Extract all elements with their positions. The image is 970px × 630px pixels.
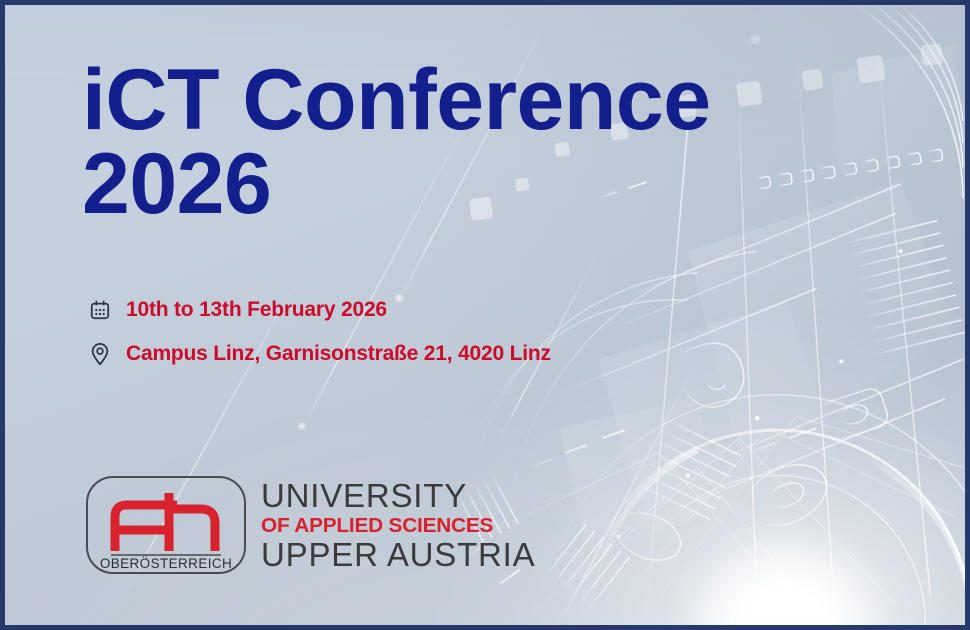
fh-upper-austria-logo: OBERÖSTERREICH UNIVERSITY OF APPLIED SCI… — [85, 475, 535, 575]
event-date-text: 10th to 13th February 2026 — [126, 298, 387, 322]
map-pin-icon — [87, 341, 113, 367]
wordmark-line-upper-austria: UPPER AUSTRIA — [261, 538, 535, 572]
fh-logo-mark-icon: OBERÖSTERREICH — [85, 475, 247, 575]
event-date-row: 10th to 13th February 2026 — [87, 293, 551, 327]
event-details: 10th to 13th February 2026 Campus Linz, … — [87, 293, 551, 381]
page-title: iCT Conference 2026 — [82, 58, 842, 227]
title-line-1: iCT Conference — [82, 58, 842, 142]
conference-banner: iCT Conference 2026 — [0, 0, 970, 630]
wordmark-line-university: UNIVERSITY — [261, 479, 535, 513]
fh-logo-wordmark: UNIVERSITY OF APPLIED SCIENCES UPPER AUS… — [261, 477, 535, 572]
event-location-text: Campus Linz, Garnisonstraße 21, 4020 Lin… — [126, 342, 551, 366]
event-location-row: Campus Linz, Garnisonstraße 21, 4020 Lin… — [87, 337, 551, 371]
fh-logo-caption: OBERÖSTERREICH — [100, 556, 232, 571]
title-line-2: 2026 — [82, 142, 842, 226]
calendar-icon — [87, 297, 113, 323]
banner-content: iCT Conference 2026 — [5, 5, 965, 625]
wordmark-line-applied-sciences: OF APPLIED SCIENCES — [261, 514, 546, 538]
